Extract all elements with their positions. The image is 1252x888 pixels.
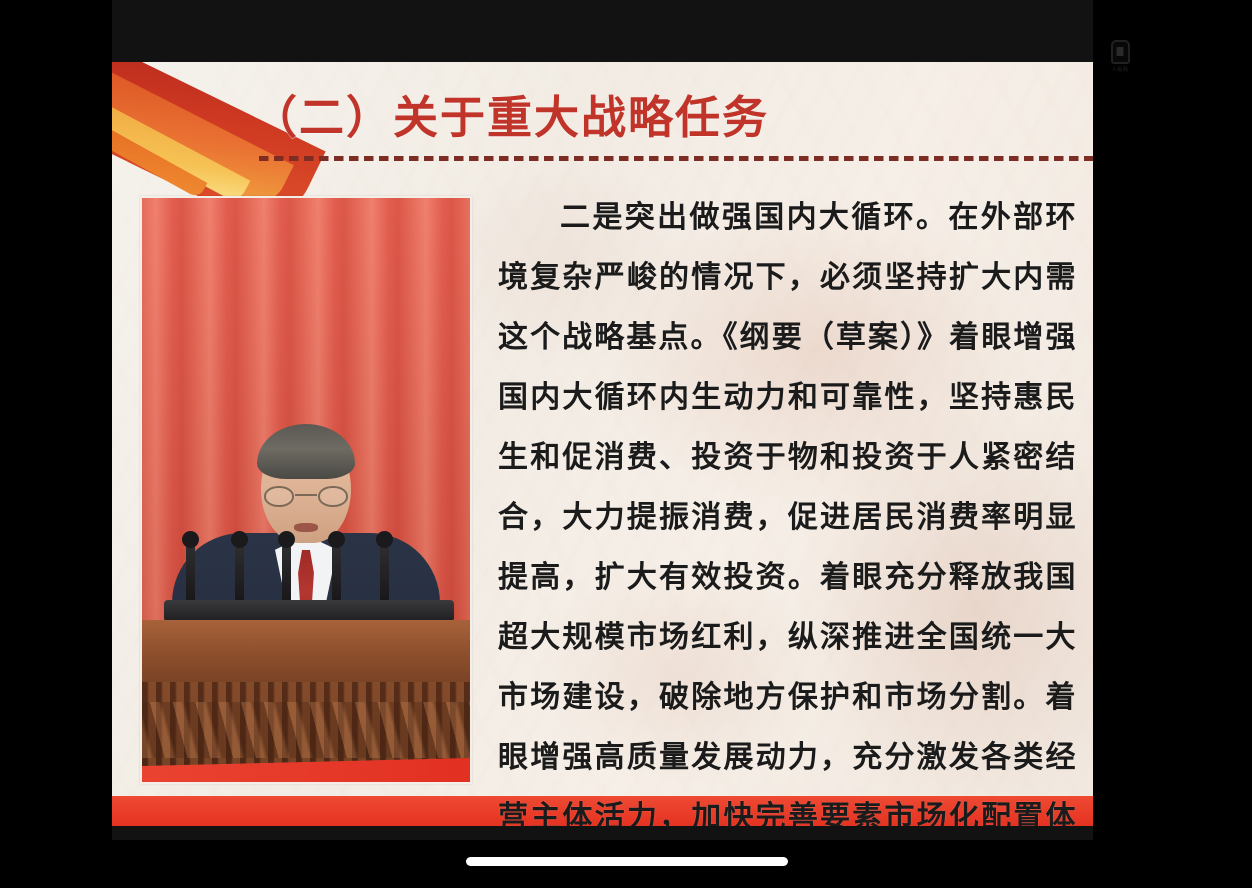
- watermark: 人民网: [1106, 36, 1134, 76]
- speaker-glasses-icon: [264, 486, 348, 508]
- watermark-label: 人民网: [1112, 66, 1128, 73]
- title-block: （二）关于重大战略任务: [252, 92, 1062, 161]
- home-indicator[interactable]: [466, 857, 788, 866]
- badge-watermark-icon: [1111, 40, 1130, 64]
- title-divider: [259, 156, 1093, 161]
- microphone-icon: [282, 544, 291, 606]
- speaker-mouth: [294, 523, 318, 532]
- microphone-icon: [186, 544, 195, 606]
- lectern-surface: [142, 620, 470, 682]
- slide-body-text: 二是突出做强国内大循环。在外部环境复杂严峻的情况下，必须坚持扩大内需这个战略基点…: [498, 188, 1076, 826]
- microphone-icon: [380, 544, 389, 606]
- microphone-icon: [332, 544, 341, 606]
- microphone-icon: [235, 544, 244, 606]
- microphone-mount-bar: [164, 600, 454, 622]
- speaker-photo: [140, 196, 472, 784]
- presentation-slide[interactable]: （二）关于重大战略任务: [112, 62, 1093, 826]
- slide-title: （二）关于重大战略任务: [252, 92, 1062, 144]
- phone-screen: 人民网 （二）关于重大战略任务: [0, 0, 1252, 888]
